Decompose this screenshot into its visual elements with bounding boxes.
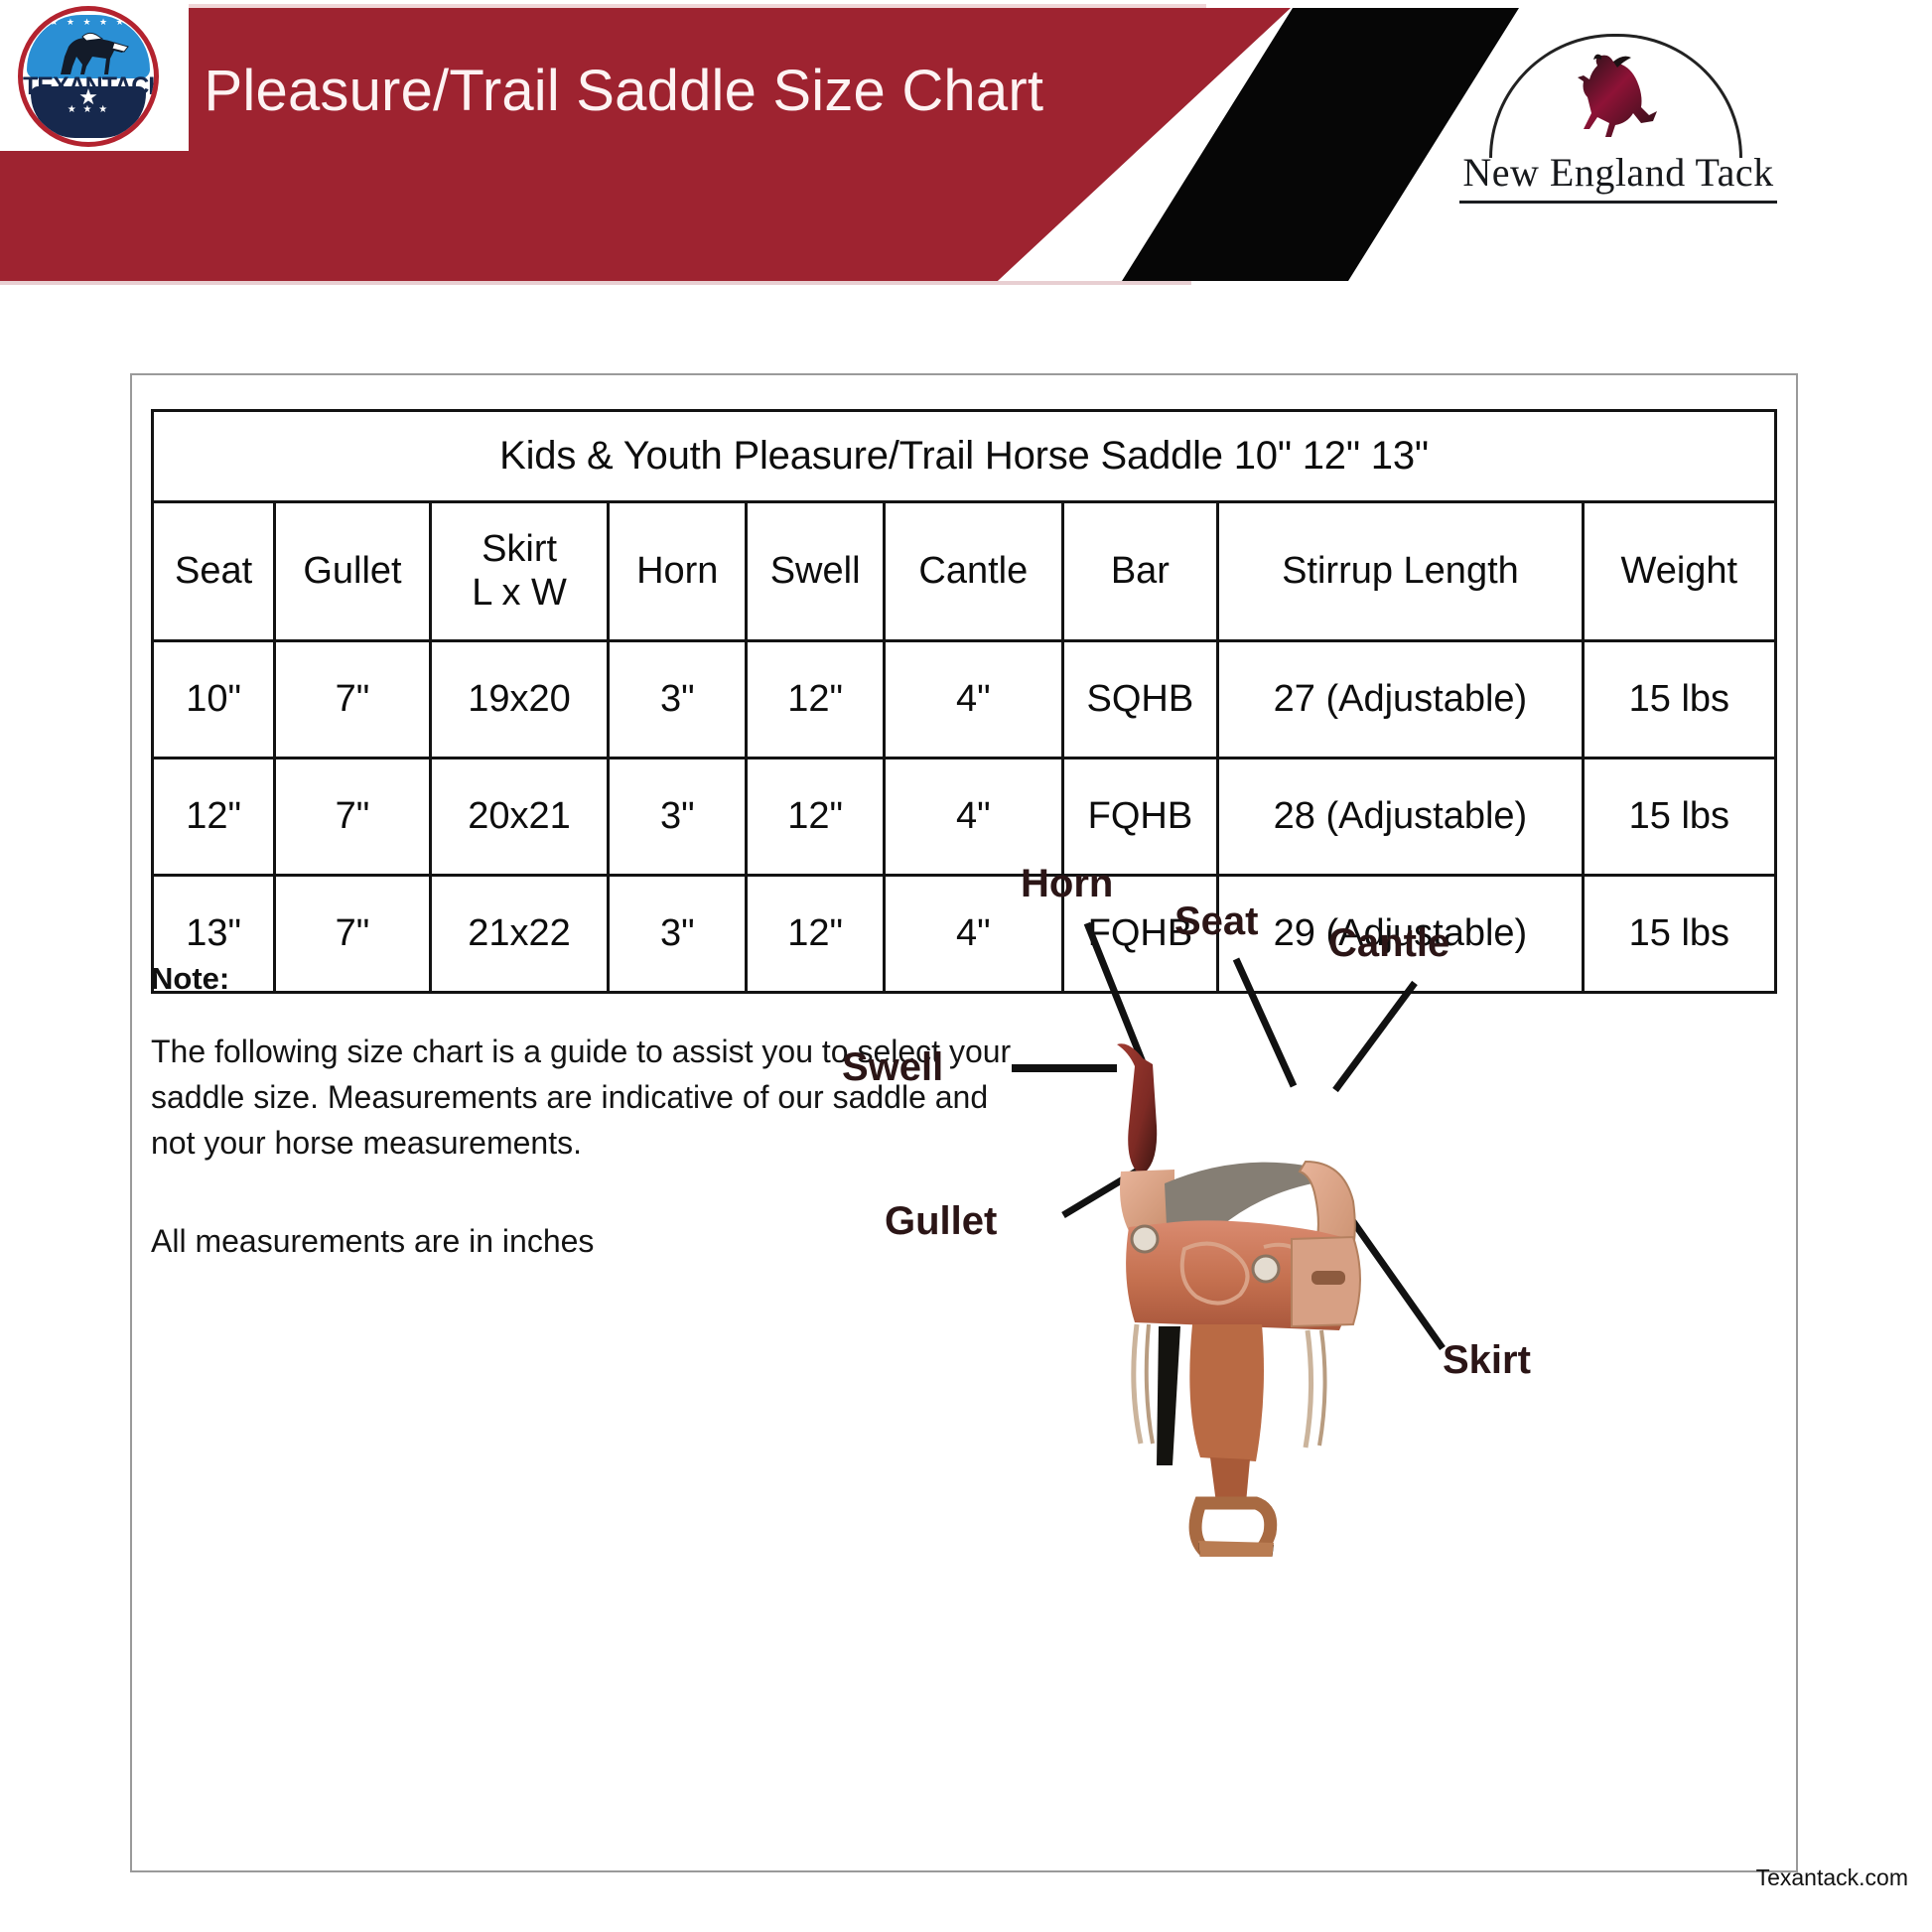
cell-seat: 12" [153,759,275,876]
texantack-navy-field: ★ [31,86,146,138]
column-header-gullet: Gullet [275,502,431,641]
table-title: Kids & Youth Pleasure/Trail Horse Saddle… [153,411,1776,502]
cell-horn: 3" [609,759,747,876]
cell-weight: 15 lbs [1583,641,1775,759]
diagram-label-skirt: Skirt [1443,1338,1531,1383]
column-header-stirrup-length: Stirrup Length [1218,502,1583,641]
net-wordmark: New England Tack [1449,149,1787,196]
cell-seat: 10" [153,641,275,759]
column-header-skirt: SkirtL x W [430,502,609,641]
texantack-logo: ★ ★ ★ ★ ★ ★ ★ TEXANTACK ★ [0,0,189,151]
cell-skirt: 20x21 [430,759,609,876]
footer-website: Texantack.com [1756,1864,1908,1891]
page-header: s Pleasure/Trail Saddle Size Chart ★ ★ ★… [0,0,1932,298]
western-saddle-image [1026,941,1542,1557]
cell-gullet: 7" [275,641,431,759]
column-header-seat: Seat [153,502,275,641]
diagram-label-seat: Seat [1174,899,1259,944]
cell-gullet: 7" [275,759,431,876]
header-red-banner [0,8,1291,281]
column-header-swell: Swell [747,502,885,641]
cell-cantle: 4" [885,641,1063,759]
diagram-label-gullet: Gullet [885,1199,997,1244]
cell-stirrup-length: 27 (Adjustable) [1218,641,1583,759]
header-hairline-bottom [0,281,1191,285]
diagram-label-horn: Horn [1021,862,1113,906]
new-england-tack-logo: New England Tack [1449,30,1787,189]
cell-bar: SQHB [1062,641,1218,759]
cell-horn: 3" [609,641,747,759]
horse-with-saddle-icon [53,29,132,76]
cell-swell: 12" [747,641,885,759]
table-row: 10" 7" 19x20 3" 12" 4" SQHB 27 (Adjustab… [153,641,1776,759]
table-header-row: Seat Gullet SkirtL x W Horn Swell Cantle… [153,502,1776,641]
texantack-badge: ★ ★ ★ ★ ★ ★ ★ TEXANTACK ★ [18,6,159,147]
diagram-label-swell: Swell [842,1045,943,1090]
table-head: Kids & Youth Pleasure/Trail Horse Saddle… [153,411,1776,641]
saddle-diagram: Horn Seat Cantle Swell Gullet Skirt [827,852,1780,1825]
content-card: Kids & Youth Pleasure/Trail Horse Saddle… [130,373,1798,1872]
column-header-cantle: Cantle [885,502,1063,641]
net-underline [1459,201,1777,204]
column-header-bar: Bar [1062,502,1218,641]
texantack-center-star: ★ [31,84,146,110]
column-header-horn: Horn [609,502,747,641]
diagram-label-cantle: Cantle [1328,921,1449,966]
page-title: s Pleasure/Trail Saddle Size Chart [159,58,1152,124]
rearing-horse-icon [1554,52,1673,139]
texantack-stars-top: ★ ★ ★ ★ ★ ★ ★ [23,17,154,28]
cell-skirt: 19x20 [430,641,609,759]
table-title-row: Kids & Youth Pleasure/Trail Horse Saddle… [153,411,1776,502]
column-header-weight: Weight [1583,502,1775,641]
